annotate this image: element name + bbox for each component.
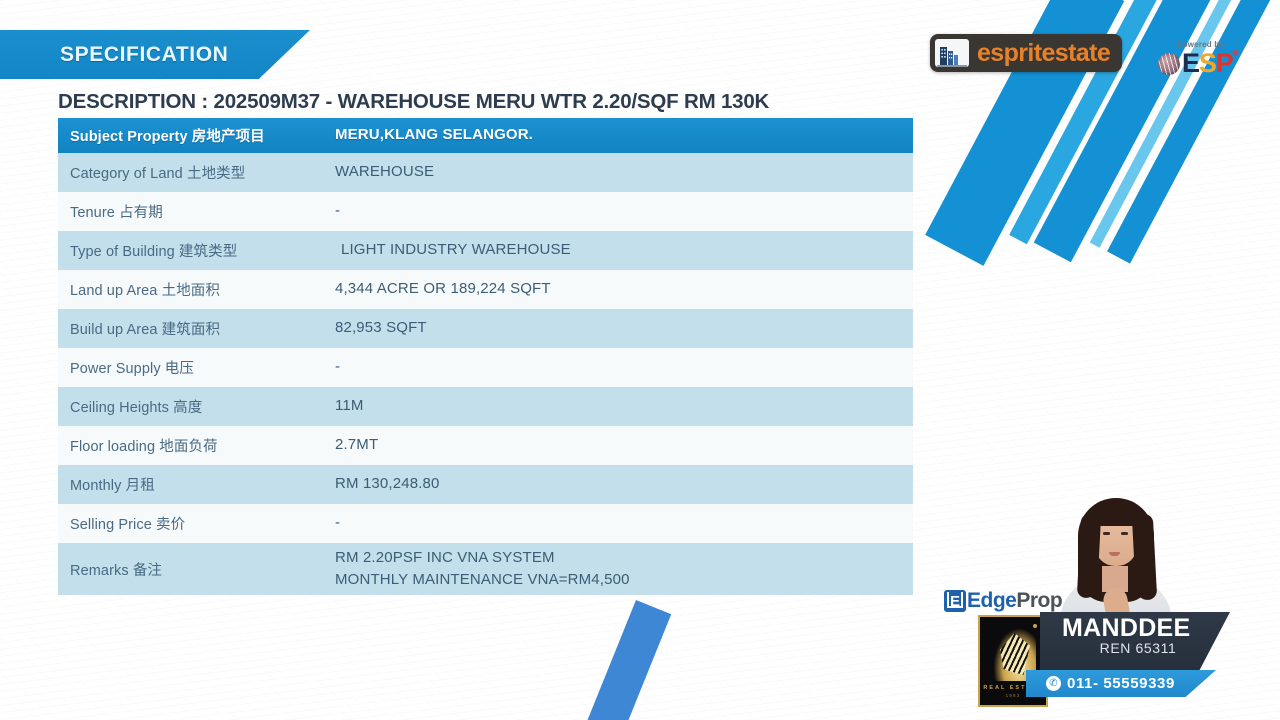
agent-phone-bar[interactable]: ✆ 011- 55559339 bbox=[1026, 670, 1216, 697]
row-label: Monthly 月租 bbox=[58, 474, 335, 495]
table-row-type-of-building: Type of Building 建筑类型 LIGHT INDUSTRY WAR… bbox=[58, 231, 913, 270]
edgeprop-edge-text: Edge bbox=[967, 589, 1016, 613]
row-value: WAREHOUSE bbox=[335, 161, 913, 184]
row-value: 4,344 ACRE OR 189,224 SQFT bbox=[335, 278, 913, 301]
agent-contact-card[interactable]: REAL ESTATE 1983 MANDDEE REN 65311 ✆ 011… bbox=[978, 612, 1230, 710]
row-label: Ceiling Heights 高度 bbox=[58, 396, 335, 417]
agent-photo-eye-left bbox=[1103, 532, 1110, 535]
row-label: Type of Building 建筑类型 bbox=[58, 240, 335, 261]
row-label: Selling Price 卖价 bbox=[58, 513, 335, 534]
row-label: Build up Area 建筑面积 bbox=[58, 318, 335, 339]
table-row-build-up-area: Build up Area 建筑面积 82,953 SQFT bbox=[58, 309, 913, 348]
registered-mark: ® bbox=[1232, 49, 1237, 58]
espritestate-wordmark: espritestate bbox=[977, 41, 1110, 66]
row-value: MERU,KLANG SELANGOR. bbox=[335, 124, 913, 147]
agent-photo-eye-right bbox=[1121, 532, 1128, 535]
row-value: 82,953 SQFT bbox=[335, 317, 913, 340]
row-label: Floor loading 地面负荷 bbox=[58, 435, 335, 456]
agent-photo-hair-right bbox=[1132, 514, 1157, 601]
decorative-diagonal-stripe-bottom bbox=[580, 600, 671, 720]
row-label: Category of Land 土地类型 bbox=[58, 162, 335, 183]
row-value: - bbox=[335, 512, 913, 535]
specification-table: Subject Property 房地产项目 MERU,KLANG SELANG… bbox=[58, 118, 913, 595]
row-label: Power Supply 电压 bbox=[58, 357, 335, 378]
agent-name: MANDDEE bbox=[1062, 615, 1230, 641]
table-row-ceiling-heights: Ceiling Heights 高度 11M bbox=[58, 387, 913, 426]
esp-letter-p: P bbox=[1216, 48, 1233, 78]
table-row-selling-price: Selling Price 卖价 - bbox=[58, 504, 913, 543]
esp-letter-s: S bbox=[1199, 48, 1216, 78]
specification-slide: SPECIFICATION DESCRIPTION : 202509M37 - … bbox=[0, 0, 1280, 720]
table-row-monthly: Monthly 月租 RM 130,248.80 bbox=[58, 465, 913, 504]
row-label: Tenure 占有期 bbox=[58, 201, 335, 222]
globe-icon bbox=[1158, 53, 1180, 75]
table-row-subject-property: Subject Property 房地产项目 MERU,KLANG SELANG… bbox=[58, 118, 913, 153]
esp-letter-e: E bbox=[1182, 48, 1199, 78]
row-value: - bbox=[335, 356, 913, 379]
row-value: RM 2.20PSF INC VNA SYSTEM MONTHLY MAINTE… bbox=[335, 547, 913, 592]
table-row-land-up-area: Land up Area 土地面积 4,344 ACRE OR 189,224 … bbox=[58, 270, 913, 309]
table-row-tenure: Tenure 占有期 - bbox=[58, 192, 913, 231]
row-value: - bbox=[335, 200, 913, 223]
phone-icon: ✆ bbox=[1046, 676, 1061, 691]
row-label: Land up Area 土地面积 bbox=[58, 279, 335, 300]
table-row-power-supply: Power Supply 电压 - bbox=[58, 348, 913, 387]
specification-banner-label: SPECIFICATION bbox=[60, 43, 228, 67]
edgeprop-prop-text: Prop bbox=[1016, 589, 1062, 613]
edgeprop-house-letter: E bbox=[950, 594, 960, 609]
row-value: LIGHT INDUSTRY WAREHOUSE bbox=[335, 239, 913, 262]
powered-by-esp: Powered by ESP® bbox=[1158, 40, 1237, 77]
specification-banner: SPECIFICATION bbox=[0, 30, 310, 79]
page-title: DESCRIPTION : 202509M37 - WAREHOUSE MERU… bbox=[58, 90, 769, 114]
row-label: Subject Property 房地产项目 bbox=[58, 125, 335, 146]
esp-wordmark: ESP® bbox=[1182, 50, 1237, 77]
agent-name-plate: MANDDEE REN 65311 bbox=[1040, 612, 1230, 670]
building-icon bbox=[935, 39, 969, 67]
espritestate-logo[interactable]: espritestate bbox=[930, 34, 1122, 72]
emblem-dot-icon bbox=[1033, 624, 1037, 628]
edgeprop-watermark: E Edge Prop bbox=[944, 589, 1062, 613]
table-row-floor-loading: Floor loading 地面负荷 2.7MT bbox=[58, 426, 913, 465]
row-value: 2.7MT bbox=[335, 434, 913, 457]
row-value: 11M bbox=[335, 395, 913, 418]
table-row-category-of-land: Category of Land 土地类型 WAREHOUSE bbox=[58, 153, 913, 192]
row-value: RM 130,248.80 bbox=[335, 473, 913, 496]
emblem-line-2: 1983 bbox=[1006, 693, 1021, 698]
house-icon: E bbox=[944, 590, 966, 612]
agent-phone-number: 011- 55559339 bbox=[1067, 675, 1175, 692]
row-label: Remarks 备注 bbox=[58, 559, 335, 580]
table-row-remarks: Remarks 备注 RM 2.20PSF INC VNA SYSTEM MON… bbox=[58, 543, 913, 595]
agent-license: REN 65311 bbox=[1062, 640, 1214, 656]
